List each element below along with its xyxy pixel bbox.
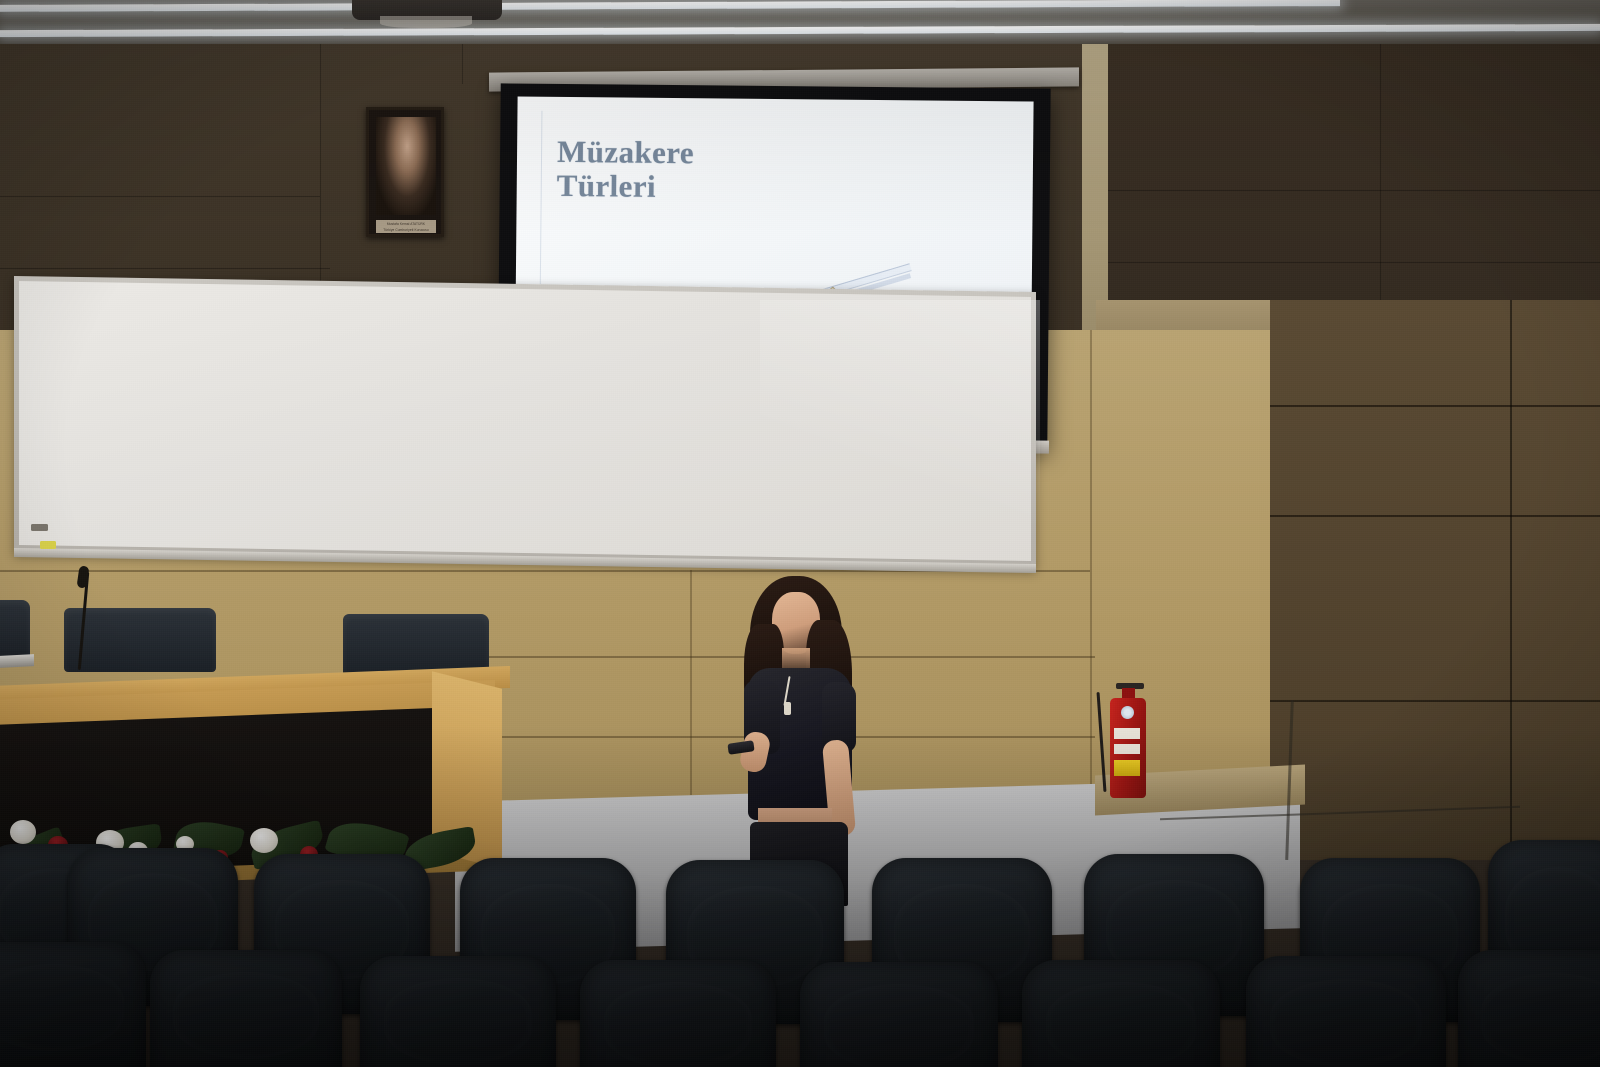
wall-seam [462,44,463,84]
ceiling-light-strip [0,0,1340,12]
fire-extinguisher-body [1110,698,1146,798]
desk-chair [0,600,30,660]
seat[interactable] [1022,960,1220,1067]
portrait-caption-plate: Mustafa Kemal ATATÜRK Türkiye Cumhuriyet… [376,220,436,233]
seat[interactable] [580,960,776,1067]
lower-wall-right-section [1270,300,1600,860]
wall-seam [1106,190,1600,191]
wall-seam [0,268,330,269]
portrait-caption-line2: Türkiye Cumhuriyeti Kurucusu [376,226,436,232]
whiteboard-surface [19,281,1031,561]
wall-seam [320,44,321,284]
wall-seam [1106,262,1600,263]
desk-device [0,654,34,668]
slide-title-line2: Türleri [557,169,694,204]
wall-panel-line [1510,300,1512,860]
slide-title-line1: Müzakere [557,135,694,170]
whiteboard-frame [14,276,1036,570]
wall-panel-line [1270,515,1600,517]
whiteboard-eraser [31,524,48,531]
desk-chair [64,608,216,672]
seat[interactable] [1458,950,1600,1067]
ceiling-light-strip [0,24,1600,37]
ceiling [0,0,1600,46]
wall-seam [1380,44,1381,344]
seat[interactable] [360,956,556,1067]
wall-panel-line [1090,330,1092,795]
upper-wall-right-section [1106,44,1600,326]
whiteboard-marker [40,541,56,549]
seat[interactable] [0,942,146,1067]
wall-pillar [1082,44,1108,344]
wall-panel-line [1270,405,1600,407]
fire-extinguisher-yellow-band [1114,760,1140,776]
seat[interactable] [1246,956,1446,1067]
seat[interactable] [800,962,998,1067]
seat[interactable] [150,950,342,1067]
fire-extinguisher-label [1114,728,1140,739]
wall-panel-line [690,570,692,795]
lecture-hall-photo: Mustafa Kemal ATATÜRK Türkiye Cumhuriyet… [0,0,1600,1067]
presenter-pendant [784,702,791,715]
auditorium-seats [0,830,1600,1067]
ataturk-portrait-image [376,117,436,215]
fire-extinguisher-label [1114,744,1140,754]
ataturk-portrait-frame: Mustafa Kemal ATATÜRK Türkiye Cumhuriyet… [366,107,444,237]
slide-title: Müzakere Türleri [557,135,695,204]
fire-extinguisher-badge-icon [1121,706,1134,719]
wall-panel-line [1270,700,1600,702]
ceiling-projector [352,0,502,20]
wall-seam [0,196,320,197]
